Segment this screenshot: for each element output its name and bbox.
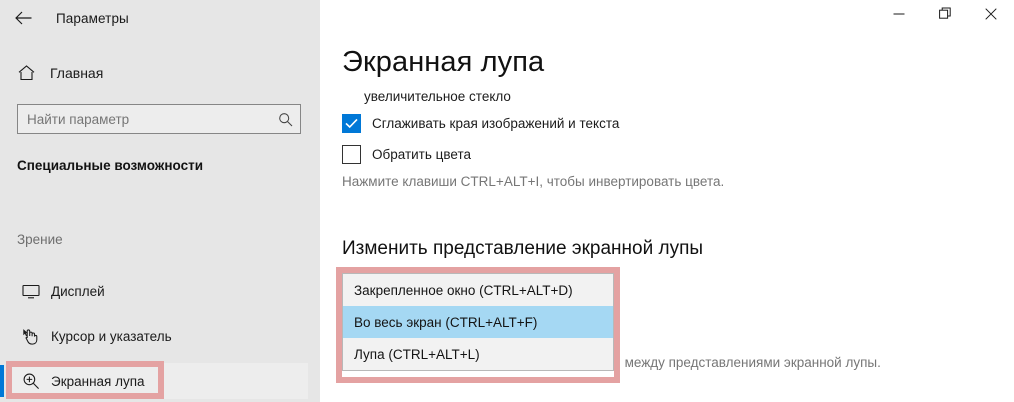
sidebar-item-display[interactable]: Дисплей bbox=[8, 273, 308, 309]
dropdown-option-docked[interactable]: Закрепленное окно (CTRL+ALT+D) bbox=[343, 274, 613, 306]
sidebar-group-label: Зрение bbox=[17, 232, 63, 247]
section-title-change-view: Изменить представление экранной лупы bbox=[342, 238, 703, 260]
checkbox-row-invert-colors[interactable]: Обратить цвета bbox=[342, 145, 471, 164]
sidebar-section-heading: Специальные возможности bbox=[17, 158, 203, 173]
checkbox-invert-colors[interactable] bbox=[342, 145, 361, 164]
back-arrow-icon bbox=[15, 11, 32, 25]
minimize-icon bbox=[893, 7, 905, 25]
search-box[interactable] bbox=[17, 104, 301, 134]
close-button[interactable] bbox=[968, 0, 1014, 32]
checkbox-smooth-edges-label: Сглаживать края изображений и текста bbox=[372, 116, 619, 131]
home-icon bbox=[18, 65, 44, 81]
dropdown-option-lens[interactable]: Лупа (CTRL+ALT+L) bbox=[343, 338, 613, 370]
sidebar-item-cursor-label: Курсор и указатель bbox=[51, 329, 172, 344]
invert-colors-hint: Нажмите клавиши CTRL+ALT+I, чтобы инверт… bbox=[342, 174, 724, 189]
sidebar-item-home-label: Главная bbox=[50, 65, 103, 81]
settings-window: Параметры Главная Специальные возможност… bbox=[0, 0, 1014, 402]
window-controls bbox=[876, 0, 1014, 32]
checkbox-smooth-edges[interactable] bbox=[342, 114, 361, 133]
sidebar-item-display-label: Дисплей bbox=[51, 284, 105, 299]
search-icon[interactable] bbox=[270, 105, 300, 133]
sidebar-item-cursor[interactable]: Курсор и указатель bbox=[8, 318, 308, 354]
magnifier-plus-icon bbox=[18, 371, 44, 391]
magnifier-view-dropdown-list[interactable]: Закрепленное окно (CTRL+ALT+D) Во весь э… bbox=[342, 273, 614, 371]
sidebar-item-magnifier-label: Экранная лупа bbox=[51, 374, 145, 389]
sidebar-item-magnifier[interactable]: Экранная лупа bbox=[8, 363, 308, 399]
sidebar-item-home[interactable]: Главная bbox=[8, 57, 308, 89]
back-button[interactable] bbox=[0, 2, 46, 34]
sidebar-titlebar: Параметры bbox=[0, 0, 320, 36]
dropdown-option-fullscreen[interactable]: Во весь экран (CTRL+ALT+F) bbox=[343, 306, 613, 338]
restore-icon bbox=[939, 7, 952, 25]
sidebar: Параметры Главная Специальные возможност… bbox=[0, 0, 320, 402]
monitor-icon bbox=[18, 281, 44, 301]
close-icon bbox=[985, 7, 997, 25]
search-input[interactable] bbox=[18, 105, 270, 133]
checkbox-row-smooth-edges[interactable]: Сглаживать края изображений и текста bbox=[342, 114, 619, 133]
hand-pointer-icon bbox=[18, 326, 44, 346]
main-content: Экранная лупа увеличительное стекло Сгла… bbox=[320, 0, 1014, 402]
page-title: Экранная лупа bbox=[342, 46, 544, 79]
minimize-button[interactable] bbox=[876, 0, 922, 32]
page-subtitle: увеличительное стекло bbox=[364, 89, 511, 104]
restore-button[interactable] bbox=[922, 0, 968, 32]
checkbox-invert-colors-label: Обратить цвета bbox=[372, 147, 471, 162]
sidebar-selection-indicator bbox=[0, 365, 4, 397]
app-title: Параметры bbox=[56, 11, 129, 26]
